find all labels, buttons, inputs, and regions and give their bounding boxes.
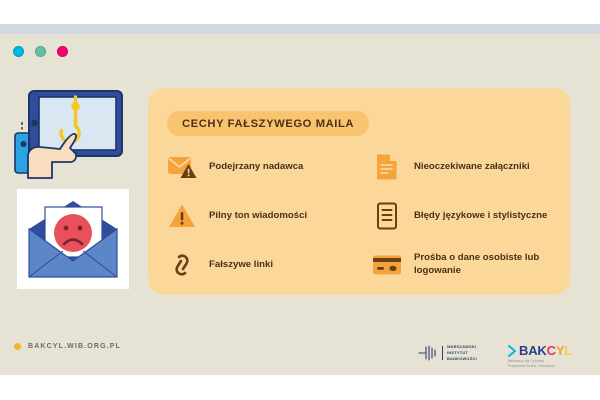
left-column: Podejrzany nadawca Pilny ton wiadomości bbox=[167, 152, 350, 280]
feature-label: Pilny ton wiadomości bbox=[209, 210, 307, 223]
footer-bullet-icon bbox=[14, 343, 21, 350]
feature-item-fake-links: Fałszywe linki bbox=[167, 250, 350, 280]
sad-face-icon bbox=[54, 214, 92, 252]
attachment-document-icon bbox=[372, 152, 402, 182]
feature-label: Prośba o dane osobiste lub logowanie bbox=[414, 252, 555, 277]
bakcyl-letter-c: C bbox=[547, 343, 556, 358]
window-dot-green[interactable] bbox=[35, 46, 46, 57]
card-title-pill: CECHY FAŁSZYWEGO MAILA bbox=[167, 111, 369, 136]
wib-logo-divider bbox=[442, 346, 443, 360]
feature-label: Błędy językowe i stylistyczne bbox=[414, 210, 547, 223]
feature-item-personal-data-request: Prośba o dane osobiste lub logowanie bbox=[372, 250, 555, 280]
broken-link-icon bbox=[167, 250, 197, 280]
feature-item-unexpected-attachments: Nieoczekiwane załączniki bbox=[372, 152, 555, 182]
feature-item-language-errors: Błędy językowe i stylistyczne bbox=[372, 201, 555, 231]
wib-logo-mark bbox=[418, 345, 438, 361]
footer-url-text: BAKCYL.WIB.ORG.PL bbox=[28, 343, 121, 350]
envelope-warning-icon bbox=[167, 152, 197, 182]
browser-chrome-bar bbox=[0, 24, 600, 34]
card-title: CECHY FAŁSZYWEGO MAILA bbox=[182, 118, 354, 130]
features-columns: Podejrzany nadawca Pilny ton wiadomości bbox=[167, 152, 555, 280]
text-document-icon bbox=[372, 201, 402, 231]
tablet-phishing-illustration bbox=[12, 86, 130, 184]
bakcyl-tagline-line-2: Przyszłości Dzieci i Młodzieży bbox=[508, 364, 578, 369]
bakcyl-letter-k: K bbox=[537, 343, 546, 358]
credit-card-icon bbox=[372, 250, 402, 280]
hook-bead bbox=[71, 102, 80, 111]
feature-label: Podejrzany nadawca bbox=[209, 161, 303, 174]
bakcyl-tagline: Bankowcy dla Cyfrowej Przyszłości Dzieci… bbox=[508, 359, 578, 369]
window-dot-pink[interactable] bbox=[57, 46, 68, 57]
window-dot-blue[interactable] bbox=[13, 46, 24, 57]
bakcyl-wordmark: BAKCYL bbox=[519, 344, 572, 357]
right-column: Nieoczekiwane załączniki Bł bbox=[372, 152, 555, 280]
envelope-sadface-illustration bbox=[17, 189, 129, 289]
wib-line-3: BANKOWOŚCI bbox=[447, 357, 477, 362]
feature-item-suspicious-sender: Podejrzany nadawca bbox=[167, 152, 350, 182]
screenshot-root: CECHY FAŁSZYWEGO MAILA Podejrza bbox=[0, 0, 600, 400]
footer-url[interactable]: BAKCYL.WIB.ORG.PL bbox=[14, 343, 121, 350]
bakcyl-letter-b: B bbox=[519, 343, 528, 358]
window-controls bbox=[13, 46, 68, 57]
bakcyl-logo: BAKCYL Bankowcy dla Cyfrowej Przyszłości… bbox=[508, 344, 578, 369]
warning-triangle-icon bbox=[167, 201, 197, 231]
wib-logo: WARSZAWSKI INSTYTUT BANKOWOŚCI bbox=[418, 345, 477, 362]
wib-logo-text: WARSZAWSKI INSTYTUT BANKOWOŚCI bbox=[447, 345, 477, 362]
info-card: CECHY FAŁSZYWEGO MAILA Podejrza bbox=[148, 88, 570, 295]
bakcyl-logo-top: BAKCYL bbox=[508, 344, 578, 357]
bakcyl-letter-l: L bbox=[564, 343, 572, 358]
bakcyl-chevron-icon bbox=[508, 345, 517, 357]
feature-label: Fałszywe linki bbox=[209, 259, 273, 272]
feature-label: Nieoczekiwane załączniki bbox=[414, 161, 530, 174]
feature-item-urgent-tone: Pilny ton wiadomości bbox=[167, 201, 350, 231]
